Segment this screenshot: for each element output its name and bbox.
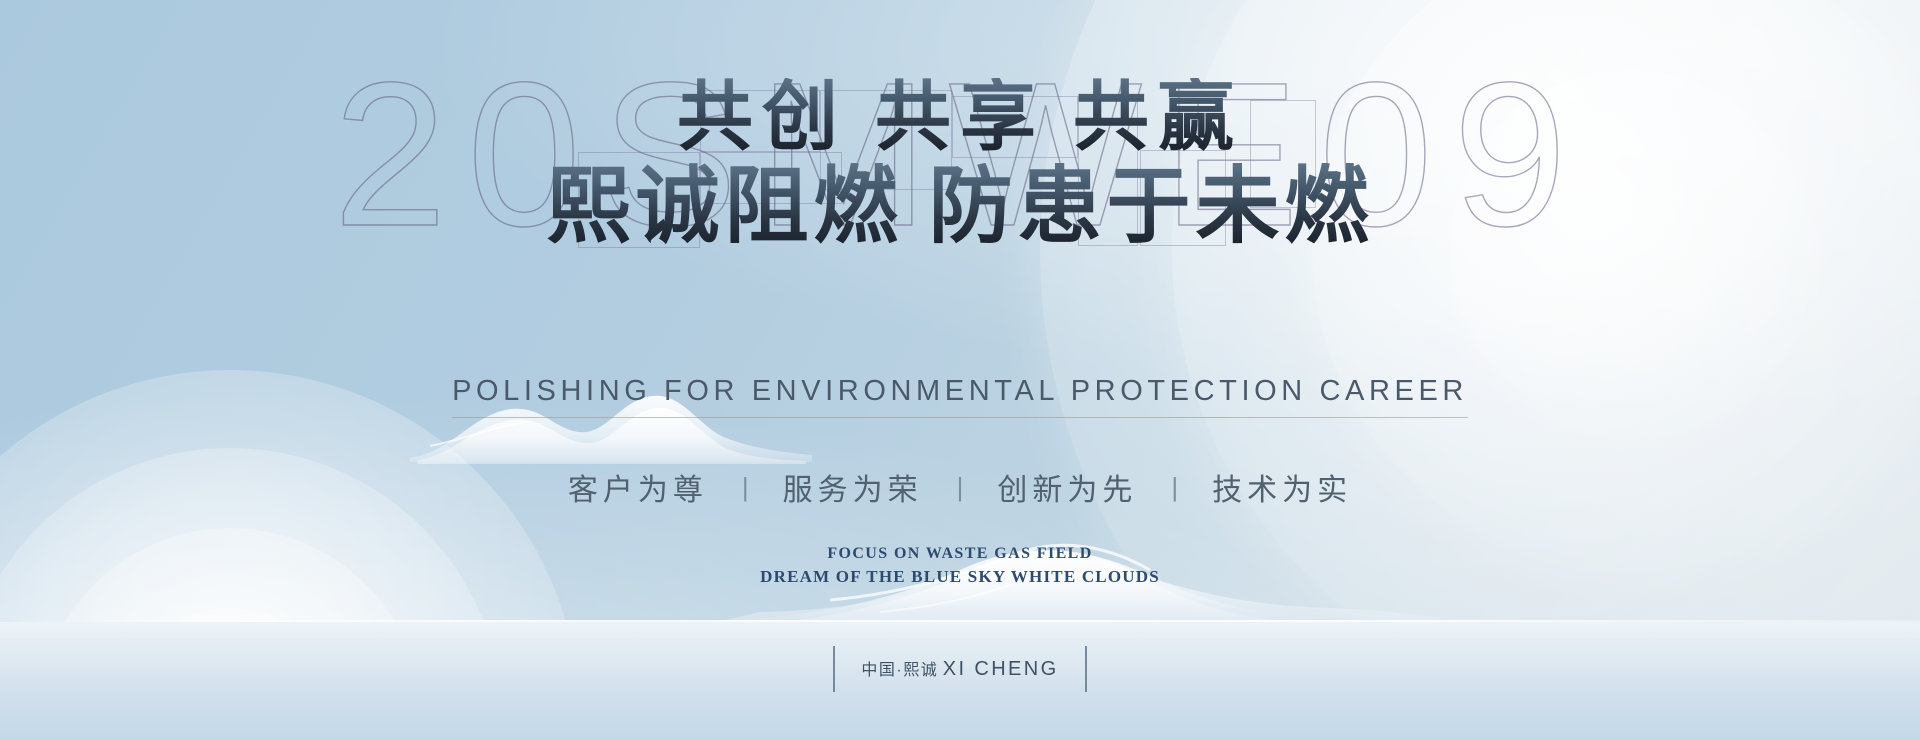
value-separator-1: |: [738, 472, 753, 503]
value-item-3: 创新为先: [967, 465, 1167, 509]
logo-bar-right: [1085, 646, 1087, 692]
subline-line-1: FOCUS ON WASTE GAS FIELD: [0, 542, 1920, 565]
logo-text: 中国·熙诚 XI CHENG: [861, 655, 1058, 684]
subline: FOCUS ON WASTE GAS FIELD DREAM OF THE BL…: [0, 542, 1920, 590]
tagline-text: POLISHING FOR ENVIRONMENTAL PROTECTION C…: [452, 375, 1468, 418]
headline-line-1: 共创 共享 共赢: [0, 78, 1920, 159]
brand-logo: 中国·熙诚 XI CHENG: [0, 646, 1920, 692]
headline-line-2: 熙诚阻燃 防患于未燃: [0, 163, 1920, 253]
subline-line-2: DREAM OF THE BLUE SKY WHITE CLOUDS: [0, 565, 1920, 590]
logo-text-en: XI CHENG: [943, 658, 1059, 680]
value-item-2: 服务为荣: [753, 465, 953, 509]
banner-root: 20SMWE09 共创 共享 共赢 熙诚阻燃 防患于未燃: [0, 0, 1920, 740]
logo-text-cn: 中国·熙诚: [861, 662, 938, 679]
horizon-line: [0, 620, 1920, 622]
headline: 共创 共享 共赢 熙诚阻燃 防患于未燃: [0, 78, 1920, 253]
values-row: 客户为尊 | 服务为荣 | 创新为先 | 技术为实: [0, 465, 1920, 509]
value-item-4: 技术为实: [1182, 465, 1382, 509]
tagline: POLISHING FOR ENVIRONMENTAL PROTECTION C…: [0, 375, 1920, 418]
value-item-1: 客户为尊: [538, 465, 738, 509]
value-separator-2: |: [953, 472, 968, 503]
value-separator-3: |: [1167, 472, 1182, 503]
logo-bar-left: [833, 646, 835, 692]
